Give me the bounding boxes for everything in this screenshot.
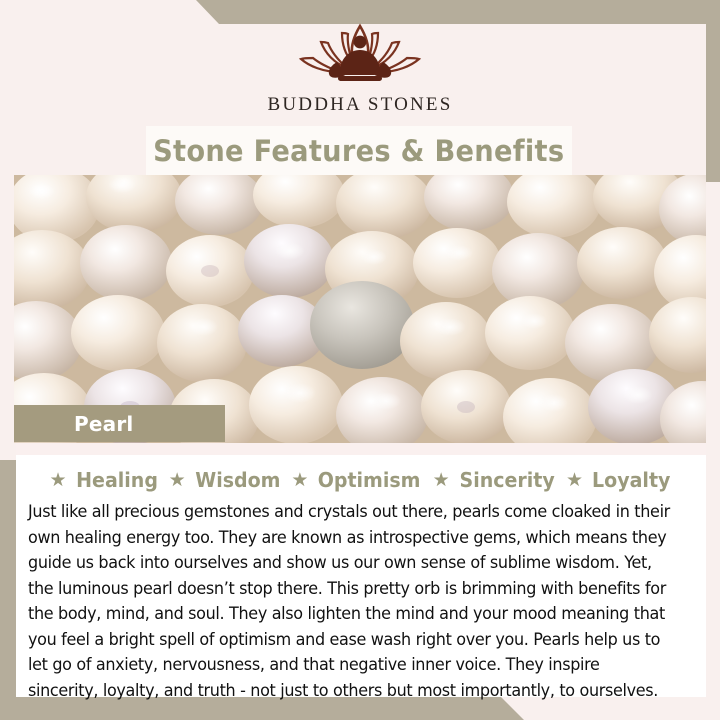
section-title-banner: Stone Features & Benefits (146, 126, 572, 175)
decor-band-left (0, 460, 16, 720)
benefit-label: Loyalty (592, 468, 670, 492)
benefit-item-sincerity: ★ Sincerity (433, 468, 557, 492)
description-card: ★ Healing ★ Wisdom ★ Optimism ★ Sincerit… (16, 455, 706, 697)
benefit-label: Optimism (318, 468, 421, 492)
brand-header: BUDDHA STONES (0, 0, 720, 125)
benefit-item-healing: ★ Healing (50, 468, 160, 492)
pearls-illustration (14, 175, 706, 443)
benefits-list: ★ Healing ★ Wisdom ★ Optimism ★ Sincerit… (16, 468, 706, 492)
brand-logo: BUDDHA STONES (0, 18, 720, 116)
stone-name-bar: Pearl (14, 405, 225, 442)
divider-strip (16, 443, 706, 455)
benefit-item-loyalty: ★ Loyalty (566, 468, 673, 492)
page-title: Stone Features & Benefits (153, 134, 564, 168)
star-icon: ★ (566, 471, 583, 490)
benefit-label: Sincerity (459, 468, 554, 492)
benefit-item-optimism: ★ Optimism (291, 468, 423, 492)
star-icon: ★ (291, 471, 308, 490)
star-icon: ★ (50, 471, 67, 490)
benefit-label: Wisdom (195, 468, 280, 492)
stone-name: Pearl (74, 412, 133, 436)
benefit-label: Healing (76, 468, 158, 492)
infographic-page: BUDDHA STONES Stone Features & Benefits (0, 0, 720, 720)
hero-image-pearls (14, 175, 706, 443)
brand-name: BUDDHA STONES (0, 94, 720, 116)
benefit-item-wisdom: ★ Wisdom (169, 468, 283, 492)
lotus-meditation-icon (285, 18, 435, 90)
star-icon: ★ (433, 471, 450, 490)
description-text: Just like all precious gemstones and cry… (28, 499, 671, 703)
star-icon: ★ (169, 471, 186, 490)
